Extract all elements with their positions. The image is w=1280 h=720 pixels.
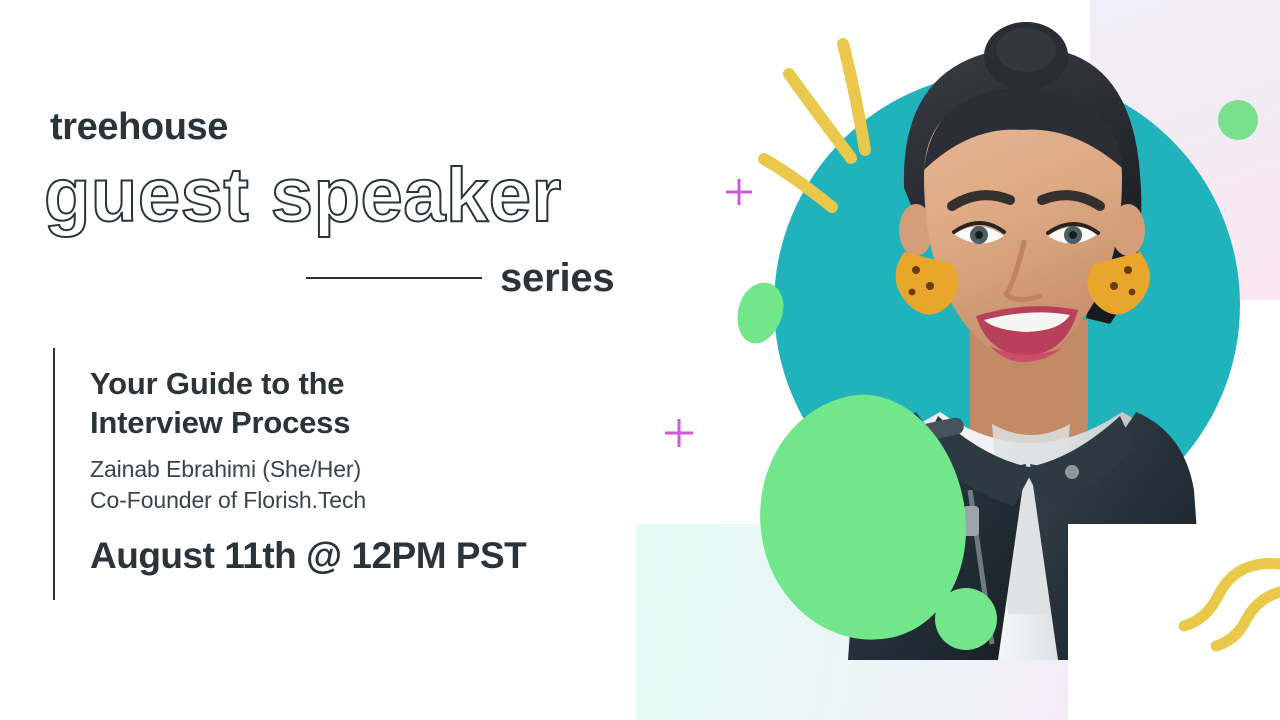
outline-headline: guest speaker: [44, 158, 562, 234]
series-label: series: [500, 258, 614, 298]
vertical-accent-rule: [53, 348, 55, 600]
series-row: series: [306, 252, 622, 304]
speaker-name: Zainab Ebrahimi (She/Her): [90, 454, 610, 485]
talk-title-line-2: Interview Process: [90, 405, 350, 440]
talk-title-line-1: Your Guide to the: [90, 366, 344, 401]
promo-slide: treehouse guest speaker series Your Guid…: [0, 0, 1280, 720]
speaker-role: Co-Founder of Florish.Tech: [90, 485, 610, 516]
event-datetime: August 11th @ 12PM PST: [90, 537, 610, 574]
bottom-right-white-wedge: [1068, 524, 1280, 720]
treehouse-wordmark: treehouse: [50, 108, 228, 146]
series-divider-rule: [306, 277, 482, 279]
talk-title: Your Guide to the Interview Process: [90, 364, 610, 442]
event-details: Your Guide to the Interview Process Zain…: [90, 364, 610, 574]
green-dot-small: [935, 588, 997, 650]
